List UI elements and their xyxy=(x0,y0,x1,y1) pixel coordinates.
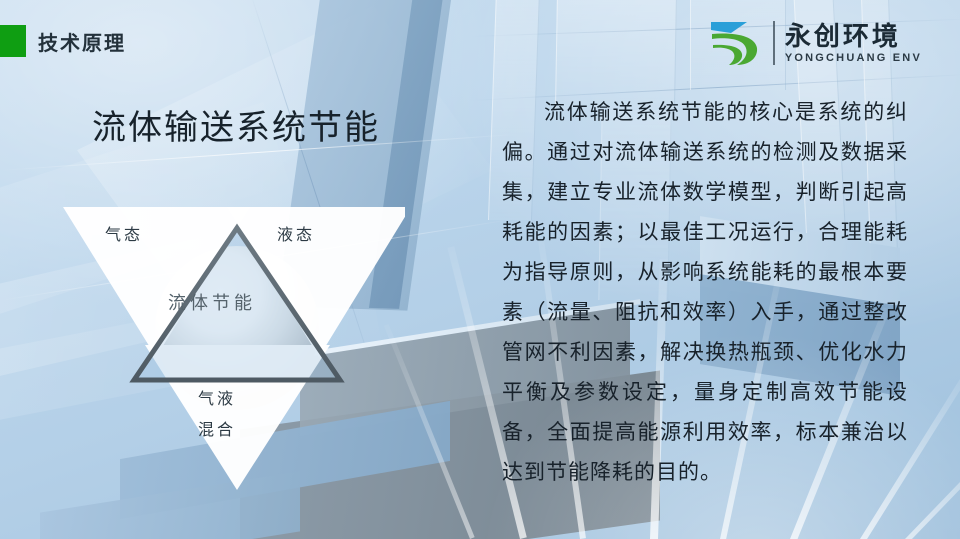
diagram-label-mixed-line2: 混合 xyxy=(198,416,236,440)
diagram-label-center: 流体节能 xyxy=(168,289,256,315)
fluid-energy-triangle-diagram: 气态 液态 流体节能 气液 混合 xyxy=(55,185,405,495)
section-accent-square xyxy=(0,25,26,57)
logo-company-cn: 永创环境 xyxy=(785,23,922,49)
diagram-label-mixed-line1: 气液 xyxy=(198,385,236,409)
page-title: 流体输送系统节能 xyxy=(92,100,380,149)
logo-company-en: YONGCHUANG ENV xyxy=(785,53,922,64)
logo-divider xyxy=(773,21,775,65)
section-label: 技术原理 xyxy=(38,27,126,56)
body-paragraph: 流体输送系统节能的核心是系统的纠偏。通过对流体输送系统的检测及数据采集，建立专业… xyxy=(502,92,908,492)
leaf-swoosh-logo-icon xyxy=(707,18,763,68)
company-logo: 永创环境 YONGCHUANG ENV xyxy=(707,18,922,68)
slide-header: 技术原理 永创环境 YONGCHUANG ENV xyxy=(0,0,960,84)
diagram-label-gas: 气态 xyxy=(105,221,143,245)
slide-root: 技术原理 永创环境 YONGCHUANG ENV 流体输送系统节能 xyxy=(0,0,960,539)
diagram-label-liquid: 液态 xyxy=(277,221,315,245)
